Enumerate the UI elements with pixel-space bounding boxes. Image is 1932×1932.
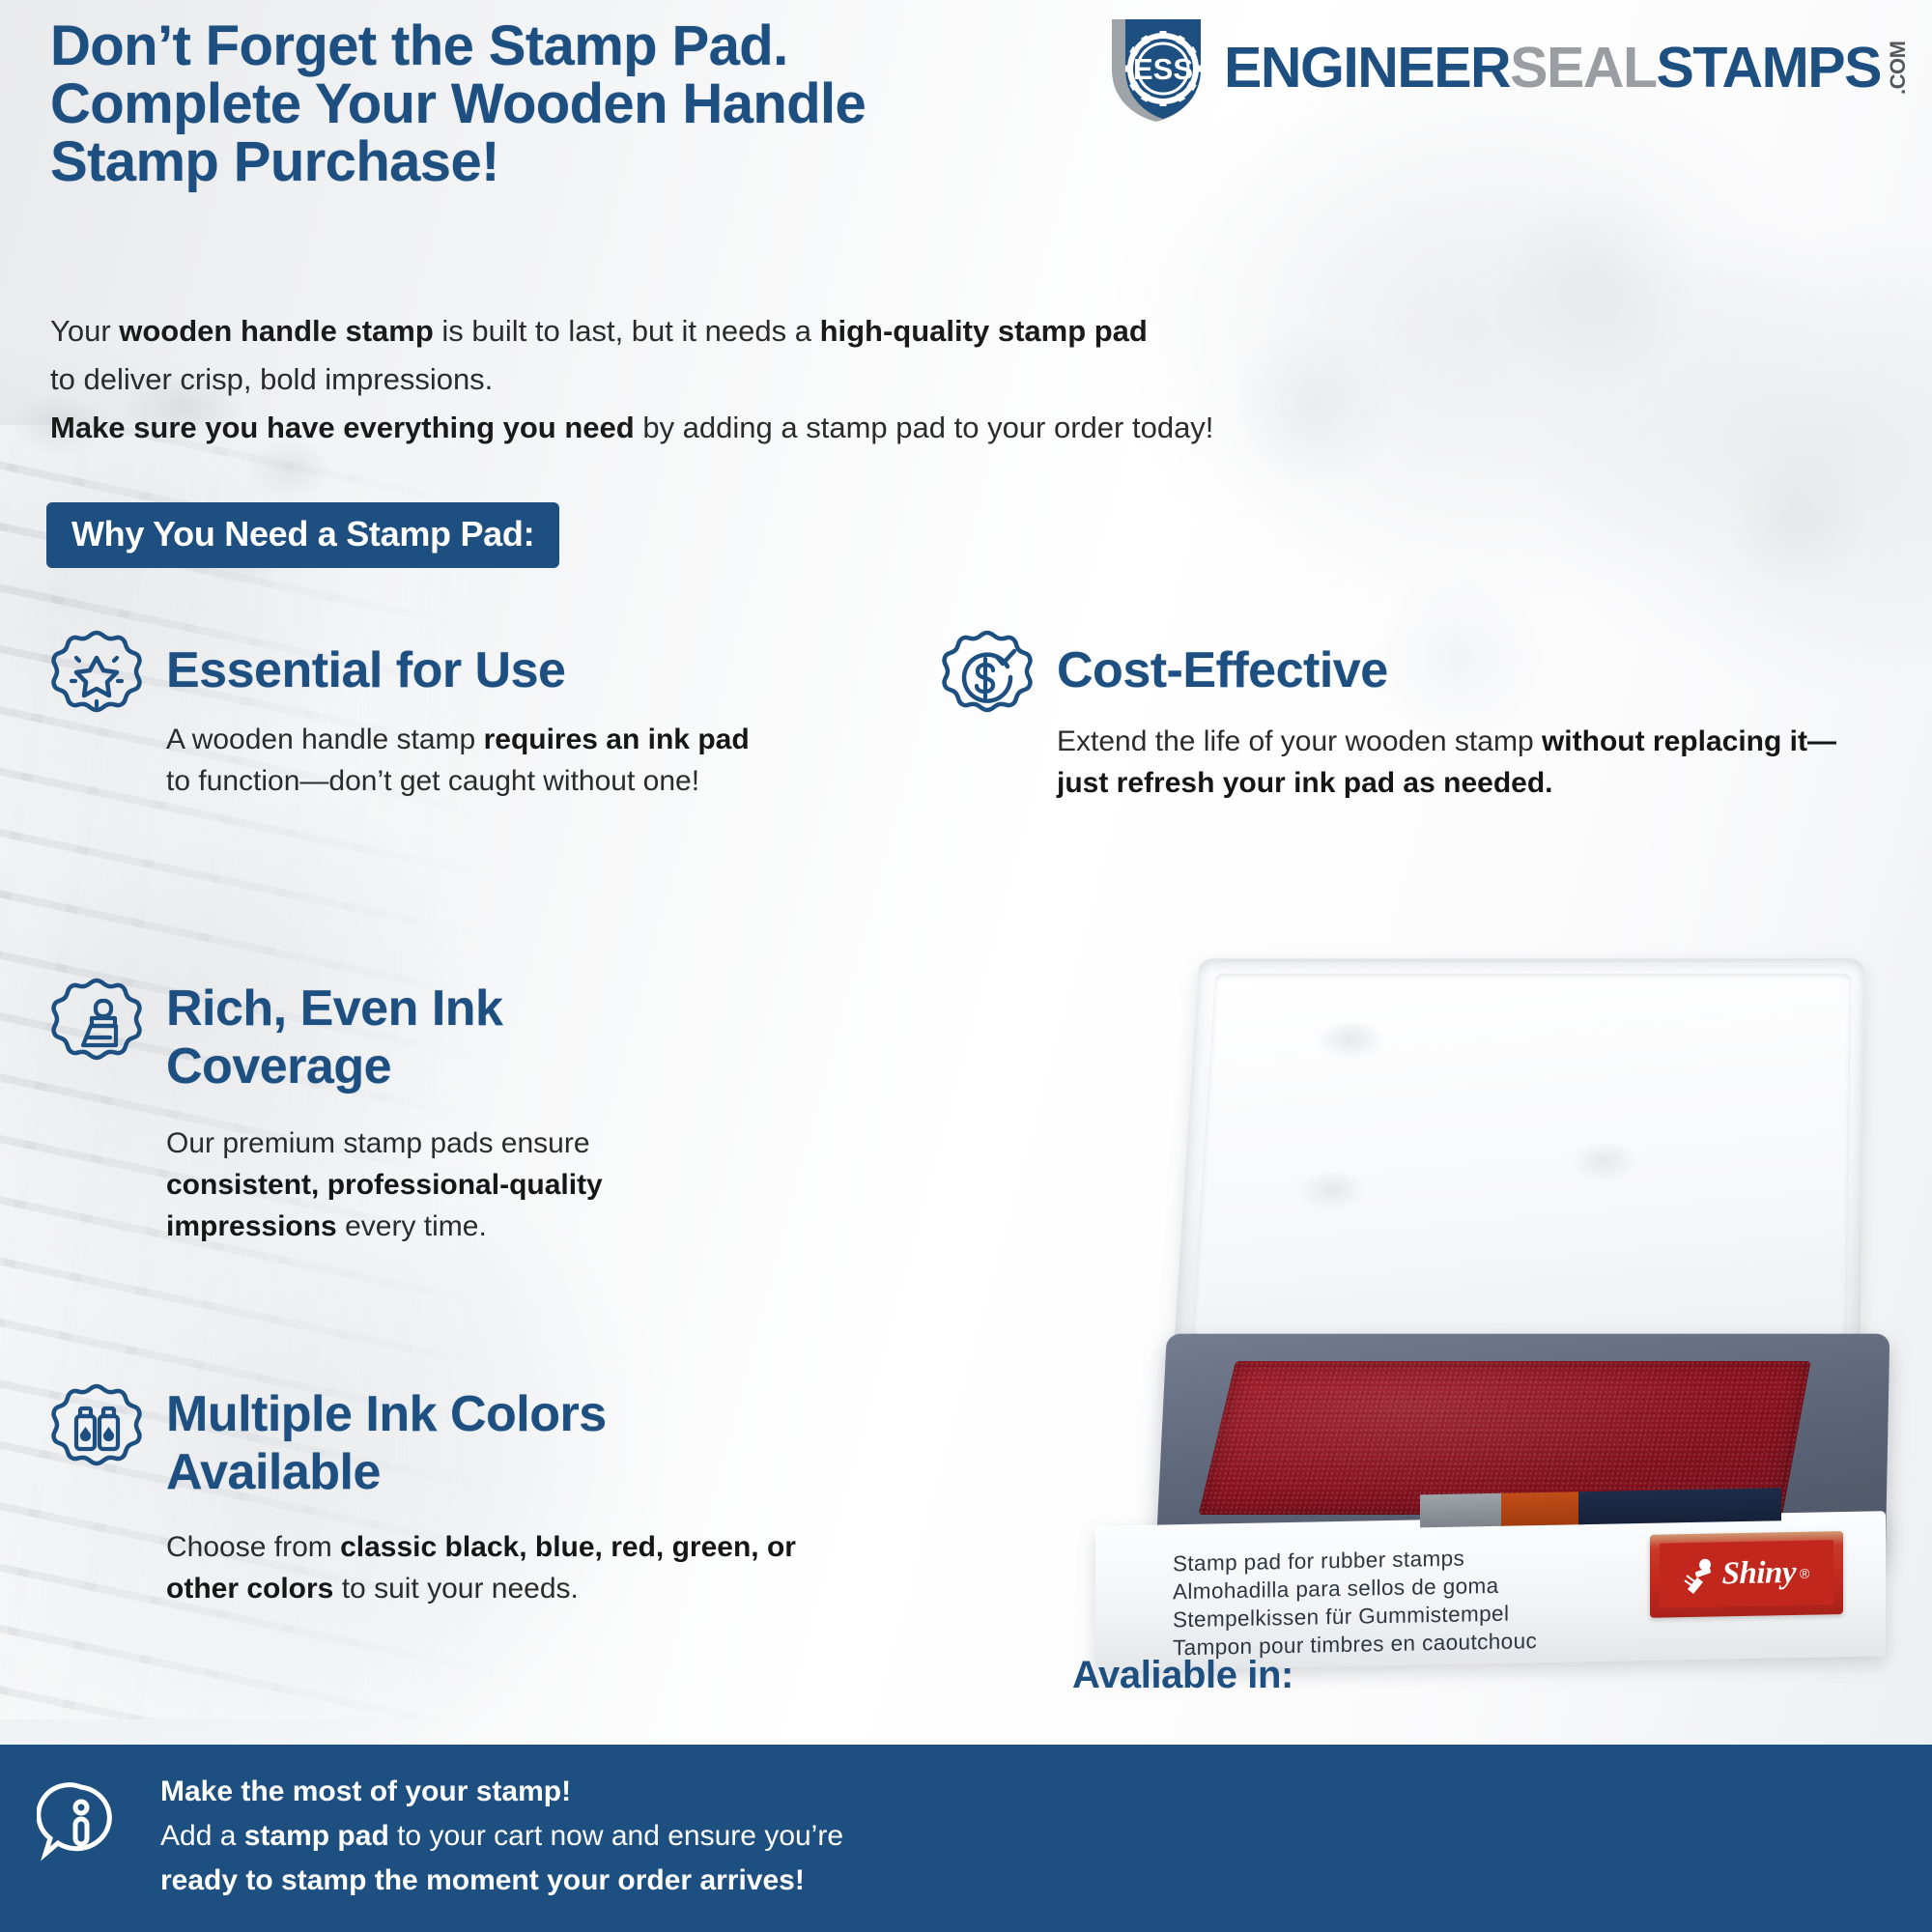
feature-body-c: to function—don’t get caught without one… bbox=[166, 765, 699, 797]
logo-word-engineer: ENGINEER bbox=[1224, 40, 1510, 97]
info-bubble-icon bbox=[37, 1779, 126, 1868]
brand-wordmark: ENGINEER SEAL STAMPS .COM bbox=[1224, 39, 1911, 97]
stamp-pad-lid bbox=[1173, 958, 1864, 1362]
footer-text-b: stamp pad bbox=[244, 1820, 389, 1852]
intro-text-e: Make sure you have everything you need bbox=[50, 411, 635, 444]
feature-body: Choose from classic black, blue, red, gr… bbox=[166, 1526, 823, 1609]
page-title: Don’t Forget the Stamp Pad. Complete You… bbox=[50, 17, 1190, 191]
badge-stamp-icon bbox=[46, 976, 147, 1076]
feature-body-a: Our premium stamp pads ensure bbox=[166, 1127, 590, 1159]
logo-tld: .COM bbox=[1886, 39, 1911, 95]
shiny-wordmark: Shiny bbox=[1722, 1555, 1796, 1592]
footer-line-3: ready to stamp the moment your order arr… bbox=[160, 1859, 843, 1903]
logo-word-seal: SEAL bbox=[1510, 40, 1656, 97]
feature-body-a: Choose from bbox=[166, 1531, 340, 1563]
intro-text-f: by adding a stamp pad to your order toda… bbox=[635, 411, 1214, 444]
headline-line-2: Complete Your Wooden Handle bbox=[50, 75, 1190, 133]
headline-line-1: Don’t Forget the Stamp Pad. bbox=[50, 17, 1190, 75]
lid-mold-mark bbox=[1297, 1173, 1367, 1211]
box-code-strip: C-S bbox=[1578, 1488, 1781, 1524]
feature-body-b: requires an ink pad bbox=[484, 724, 750, 755]
section-banner: Why You Need a Stamp Pad: bbox=[46, 502, 559, 568]
feature-body-a: Extend the life of your wooden stamp bbox=[1057, 725, 1542, 757]
intro-paragraph: Your wooden handle stamp is built to las… bbox=[50, 307, 1403, 452]
feature-body-c: to suit your needs. bbox=[333, 1573, 578, 1605]
feature-body-a: A wooden handle stamp bbox=[166, 724, 484, 755]
feature-body: Our premium stamp pads ensure consistent… bbox=[166, 1122, 746, 1247]
lid-mold-mark bbox=[1570, 1144, 1638, 1182]
feature-essential-for-use: Essential for Use A wooden handle stamp … bbox=[46, 628, 761, 802]
product-photo-stamp-pad: C-S Stamp pad for rubber stamps Almohadi… bbox=[1072, 947, 1922, 1623]
intro-text-a: Your bbox=[50, 314, 119, 348]
badge-star-icon bbox=[46, 628, 147, 728]
feature-multiple-ink-colors: Multiple Ink Colors Available Choose fro… bbox=[46, 1381, 858, 1609]
box-description-text: Stamp pad for rubber stamps Almohadilla … bbox=[1173, 1543, 1537, 1662]
brand-logo[interactable]: ESS ENGINEER SEAL STAMPS .COM bbox=[1098, 14, 1911, 122]
footer-line-2: Add a stamp pad to your cart now and ens… bbox=[160, 1814, 843, 1859]
intro-line-2: to deliver crisp, bold impressions. bbox=[50, 355, 1403, 404]
badge-dollar-check-icon bbox=[937, 628, 1037, 728]
feature-title: Rich, Even Ink Coverage bbox=[166, 976, 707, 1095]
feature-title: Cost-Effective bbox=[1057, 628, 1903, 699]
badge-ink-bottles-icon bbox=[46, 1381, 147, 1482]
footer-text-a: Add a bbox=[160, 1820, 244, 1852]
intro-text-d: high-quality stamp pad bbox=[820, 314, 1148, 348]
feature-rich-even-ink-coverage: Rich, Even Ink Coverage Our premium stam… bbox=[46, 976, 761, 1247]
footer-message: Make the most of your stamp! Add a stamp… bbox=[160, 1770, 843, 1903]
shiny-brand-logo: Shiny ® bbox=[1650, 1531, 1843, 1618]
footer-line-1: Make the most of your stamp! bbox=[160, 1770, 843, 1814]
feature-title: Multiple Ink Colors Available bbox=[166, 1381, 784, 1501]
logo-word-stamps: STAMPS bbox=[1657, 40, 1881, 97]
shiny-stamp-glyph bbox=[1684, 1555, 1719, 1595]
infographic-page: Don’t Forget the Stamp Pad. Complete You… bbox=[0, 0, 1932, 1932]
intro-text-c: is built to last, but it needs a bbox=[434, 314, 820, 348]
ess-shield-icon: ESS bbox=[1098, 14, 1222, 122]
box-color-strip bbox=[1420, 1493, 1503, 1528]
logo-mark-text: ESS bbox=[1133, 52, 1193, 86]
shiny-registered-mark: ® bbox=[1800, 1565, 1809, 1580]
feature-body: A wooden handle stamp requires an ink pa… bbox=[166, 719, 765, 802]
stamp-pad-lid-inner bbox=[1191, 974, 1851, 1352]
intro-line-1: Your wooden handle stamp is built to las… bbox=[50, 307, 1403, 355]
footer-text-c: to your cart now and ensure you’re bbox=[389, 1820, 843, 1852]
box-color-strip bbox=[1501, 1492, 1584, 1526]
intro-text-b: wooden handle stamp bbox=[119, 314, 434, 348]
feature-title: Essential for Use bbox=[166, 628, 761, 699]
feature-body-c: every time. bbox=[337, 1210, 487, 1242]
available-in-label: Avaliable in: bbox=[1072, 1654, 1293, 1697]
headline-line-3: Stamp Purchase! bbox=[50, 133, 1190, 191]
feature-cost-effective: Cost-Effective Extend the life of your w… bbox=[937, 628, 1903, 804]
stamp-pad-retail-box: C-S Stamp pad for rubber stamps Almohadi… bbox=[1095, 1511, 1886, 1671]
feature-body: Extend the life of your wooden stamp wit… bbox=[1057, 721, 1859, 804]
footer-cta-bar: Make the most of your stamp! Add a stamp… bbox=[0, 1745, 1932, 1932]
intro-line-3: Make sure you have everything you need b… bbox=[50, 404, 1403, 452]
lid-mold-mark bbox=[1316, 1022, 1384, 1060]
